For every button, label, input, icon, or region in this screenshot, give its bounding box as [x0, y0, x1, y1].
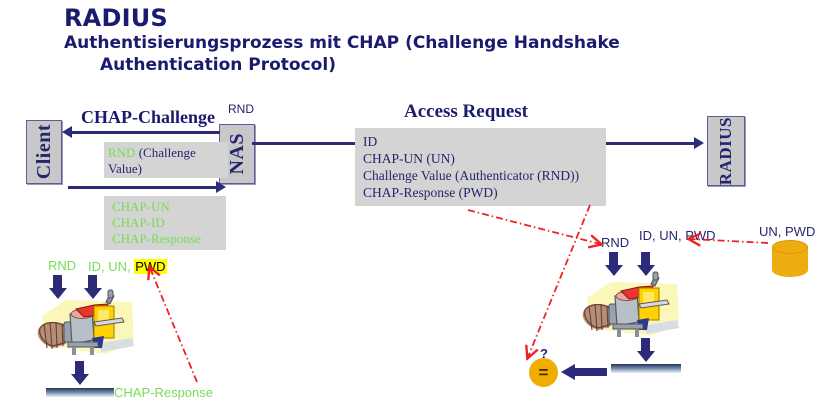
- hash-output-bar-left: [46, 388, 114, 397]
- node-client-label: Client: [33, 124, 56, 179]
- panel-chap-item-1: CHAP-ID: [112, 215, 201, 231]
- panel-chap-item-0: CHAP-UN: [112, 199, 201, 215]
- line-nas-to-client: [72, 131, 220, 134]
- panel-access-item-0: ID: [363, 133, 579, 150]
- label-un-pwd-from-db: UN, PWD: [759, 224, 815, 239]
- diagram-canvas: RADIUS Authentisierungsprozess mit CHAP …: [0, 0, 832, 416]
- page-subtitle: Authentisierungsprozess mit CHAP (Challe…: [64, 32, 808, 76]
- arrowhead-client-to-nas: [216, 181, 226, 193]
- label-chap-response-output: CHAP-Response: [114, 385, 213, 400]
- label-pwd-highlight: PWD: [134, 259, 166, 274]
- panel-access-item-1: CHAP-UN (UN): [363, 150, 579, 167]
- panel-chap-item-2: CHAP-Response: [112, 231, 201, 247]
- label-rnd-above-nas: RND: [228, 102, 254, 116]
- node-radius-label: RADIUS: [716, 117, 736, 185]
- equals-glyph: =: [539, 364, 549, 381]
- arrowhead-to-radius: [694, 137, 704, 149]
- node-nas-label: NAS: [226, 133, 249, 175]
- label-id-un-pwd-left: ID, UN, PWD: [88, 259, 167, 274]
- arrow-grinder-left-output: [75, 361, 84, 385]
- page-title: RADIUS: [64, 4, 168, 32]
- panel-access-item-2: Challenge Value (Authenticator (RND)): [363, 167, 579, 184]
- node-client[interactable]: Client: [26, 120, 62, 184]
- line-nas-to-access-request: [252, 142, 358, 145]
- hash-output-bar-right: [611, 364, 681, 373]
- hash-grinder-icon-left: [36, 288, 140, 360]
- arrow-grinder-right-output: [641, 338, 650, 362]
- page-subtitle-line1: Authentisierungsprozess mit CHAP (Challe…: [64, 33, 620, 53]
- panel-access-text: ID CHAP-UN (UN) Challenge Value (Authent…: [363, 133, 579, 201]
- panel-challenge-text: RND (Challenge Value): [108, 145, 226, 177]
- line-client-to-nas: [68, 186, 218, 189]
- database-cylinder-icon: [772, 240, 808, 282]
- label-id-un-left: ID, UN,: [88, 259, 134, 274]
- red-arrow-pwd-to-chap-response: [150, 268, 197, 382]
- node-radius-server[interactable]: RADIUS: [707, 116, 745, 186]
- panel-access-request: ID CHAP-UN (UN) Challenge Value (Authent…: [355, 128, 606, 206]
- line-access-request-to-radius: [604, 142, 696, 145]
- panel-chap-fields: CHAP-UN CHAP-ID CHAP-Response: [104, 196, 226, 250]
- label-id-un-pwd-right: ID, UN, PWD: [639, 228, 716, 243]
- label-chap-challenge: CHAP-Challenge: [81, 107, 215, 128]
- red-arrow-access-to-grinder-right: [468, 210, 600, 244]
- panel-challenge-value: RND (Challenge Value): [104, 142, 228, 178]
- panel-chap-text: CHAP-UN CHAP-ID CHAP-Response: [112, 199, 201, 247]
- panel-access-item-3: CHAP-Response (PWD): [363, 184, 579, 201]
- arrow-compare-to-equals: [561, 364, 607, 380]
- arrowhead-nas-to-client: [62, 126, 72, 138]
- panel-challenge-rnd: RND: [108, 145, 135, 160]
- hash-grinder-icon-right: [581, 270, 685, 342]
- page-subtitle-line2: Authentication Protocol): [64, 54, 808, 76]
- equals-compare-icon: =: [529, 358, 558, 387]
- label-rnd-right: RND: [601, 235, 629, 250]
- label-rnd-left: RND: [48, 258, 76, 273]
- label-access-request: Access Request: [404, 101, 528, 123]
